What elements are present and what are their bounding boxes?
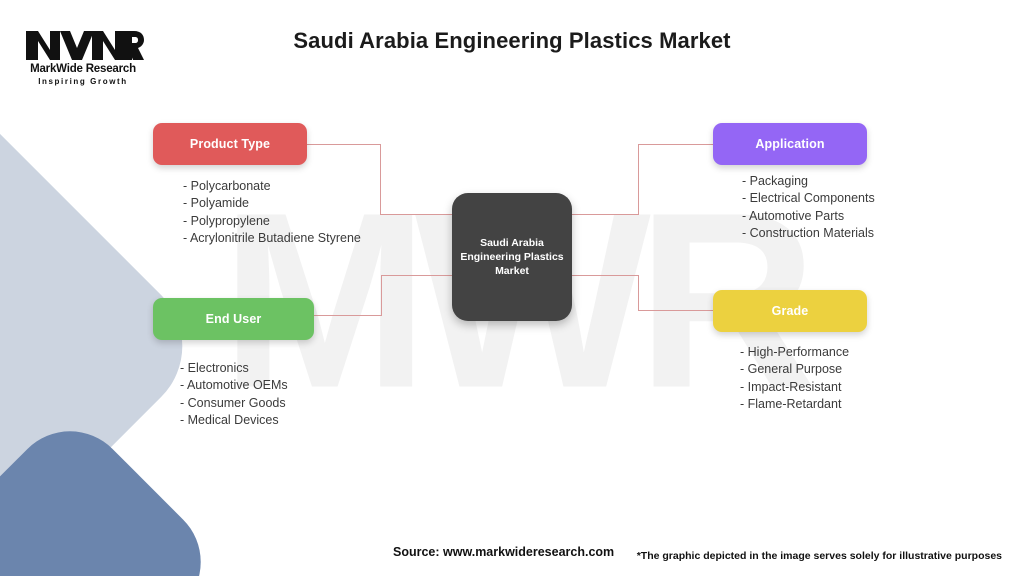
- connector-end-user-h2: [381, 275, 454, 276]
- list-item: - Electrical Components: [742, 190, 875, 207]
- connector-grade-h1: [570, 275, 639, 276]
- center-node[interactable]: Saudi Arabia Engineering Plastics Market: [452, 193, 572, 321]
- connector-grade-h2: [638, 310, 714, 311]
- connector-product-type-h2: [380, 214, 454, 215]
- connector-product-type-h1: [307, 144, 381, 145]
- branch-chip-application[interactable]: Application: [713, 123, 867, 165]
- list-item: - Acrylonitrile Butadiene Styrene: [183, 230, 361, 247]
- branch-chip-product-type[interactable]: Product Type: [153, 123, 307, 165]
- list-item: - General Purpose: [740, 361, 849, 378]
- branch-label-end-user: End User: [206, 312, 262, 326]
- list-item: - Polycarbonate: [183, 178, 361, 195]
- logo-tagline: Inspiring Growth: [22, 77, 144, 86]
- connector-application-v: [638, 144, 639, 215]
- branch-items-application: - Packaging - Electrical Components - Au…: [742, 173, 875, 243]
- connector-end-user-v: [381, 275, 382, 316]
- list-item: - Automotive OEMs: [180, 377, 288, 394]
- connector-product-type-v: [380, 144, 381, 215]
- branch-items-end-user: - Electronics - Automotive OEMs - Consum…: [180, 360, 288, 430]
- branch-items-grade: - High-Performance - General Purpose - I…: [740, 344, 849, 414]
- connector-application-h2: [638, 144, 714, 145]
- connector-end-user-h1: [314, 315, 382, 316]
- list-item: - Medical Devices: [180, 412, 288, 429]
- logo-company-name: MarkWide Research: [22, 63, 144, 75]
- list-item: - Automotive Parts: [742, 208, 875, 225]
- source-label: Source: www.markwideresearch.com: [393, 545, 614, 559]
- diagram-canvas: MWR MarkWide Research Inspiring Growth S…: [0, 0, 1024, 576]
- list-item: - Construction Materials: [742, 225, 875, 242]
- list-item: - Flame-Retardant: [740, 396, 849, 413]
- list-item: - Polyamide: [183, 195, 361, 212]
- list-item: - High-Performance: [740, 344, 849, 361]
- disclaimer-label: *The graphic depicted in the image serve…: [637, 550, 1002, 562]
- list-item: - Electronics: [180, 360, 288, 377]
- page-title: Saudi Arabia Engineering Plastics Market: [0, 28, 1024, 54]
- connector-grade-v: [638, 275, 639, 311]
- list-item: - Packaging: [742, 173, 875, 190]
- list-item: - Polypropylene: [183, 213, 361, 230]
- connector-application-h1: [570, 214, 639, 215]
- branch-label-product-type: Product Type: [190, 137, 270, 151]
- list-item: - Impact-Resistant: [740, 379, 849, 396]
- center-node-label: Saudi Arabia Engineering Plastics Market: [452, 236, 572, 278]
- branch-label-grade: Grade: [772, 304, 809, 318]
- list-item: - Consumer Goods: [180, 395, 288, 412]
- branch-chip-grade[interactable]: Grade: [713, 290, 867, 332]
- branch-items-product-type: - Polycarbonate - Polyamide - Polypropyl…: [183, 178, 361, 248]
- branch-chip-end-user[interactable]: End User: [153, 298, 314, 340]
- branch-label-application: Application: [755, 137, 824, 151]
